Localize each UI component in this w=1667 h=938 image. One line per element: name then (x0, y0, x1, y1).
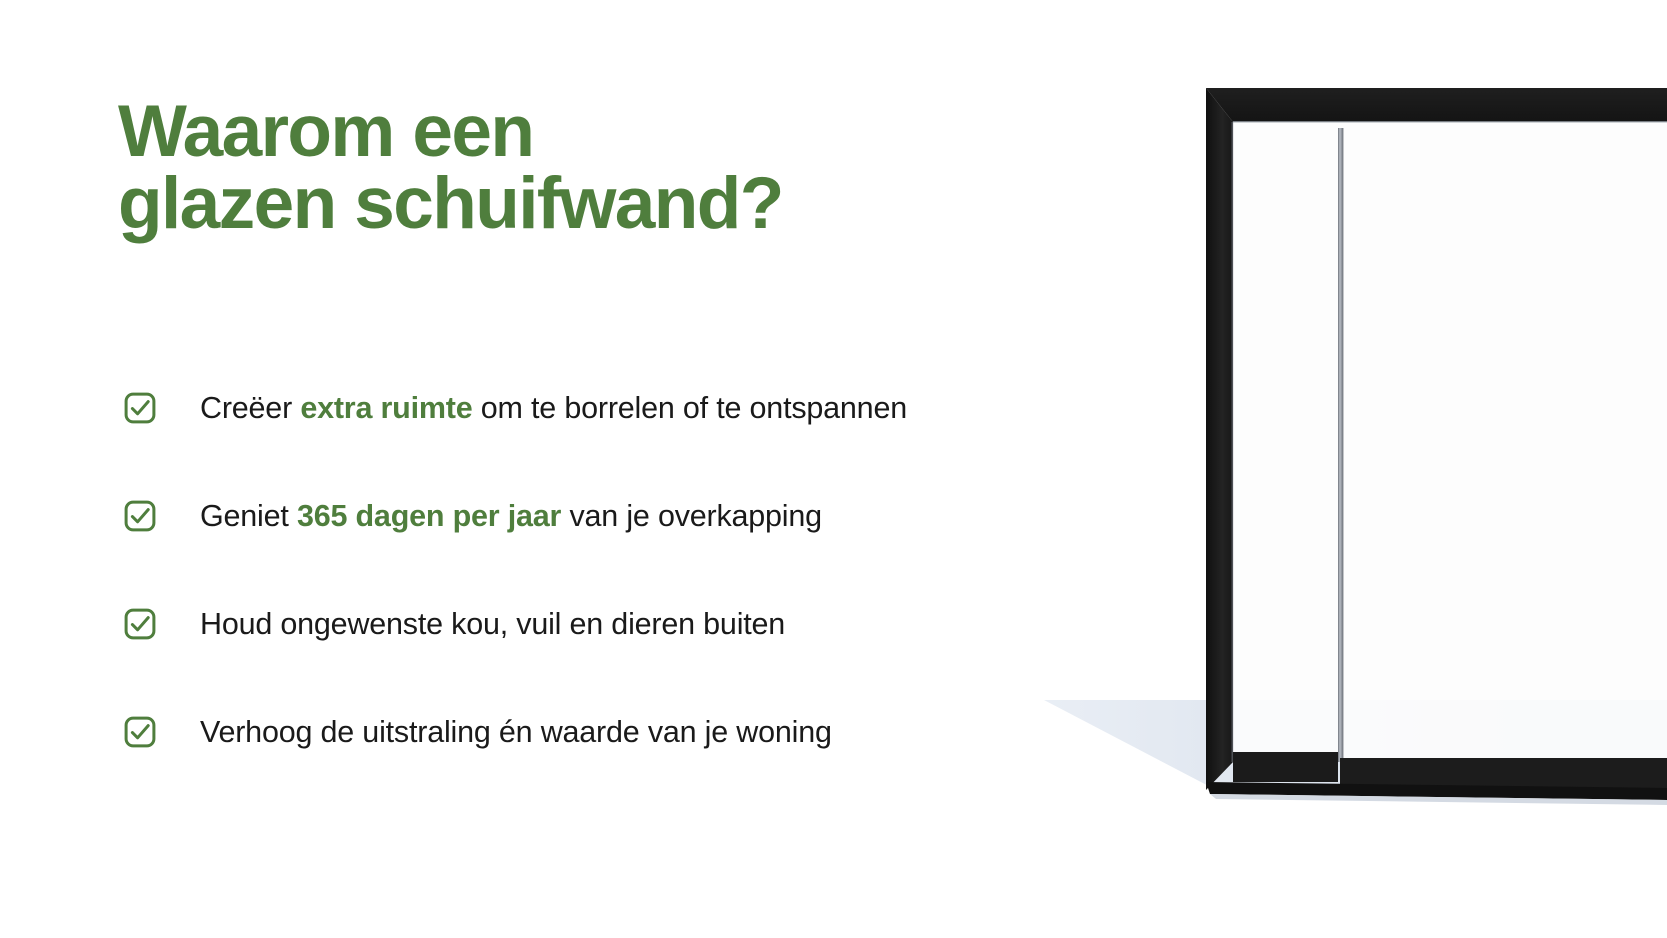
frame-bottom-rail-left (1233, 752, 1338, 782)
glass-sliding-wall-photo (1020, 0, 1667, 938)
list-item-label: Verhoog de uitstraling én waarde van je … (200, 717, 832, 748)
frame-left-post (1206, 88, 1233, 790)
frame-top-rail (1206, 88, 1667, 122)
list-item-emphasis: 365 dagen per jaar (297, 499, 561, 533)
list-item-label: Geniet 365 dagen per jaar van je overkap… (200, 501, 822, 532)
list-item: Creëer extra ruimte om te borrelen of te… (124, 390, 1074, 426)
list-item-label: Creëer extra ruimte om te borrelen of te… (200, 393, 907, 424)
list-item-label: Houd ongewenste kou, vuil en dieren buit… (200, 609, 785, 640)
list-item-text-part: Geniet (200, 499, 297, 533)
checkbox-checked-icon (124, 500, 156, 532)
list-item-emphasis: extra ruimte (300, 391, 472, 425)
checkbox-checked-icon (124, 608, 156, 640)
list-item-text-part: om te borrelen of te ontspannen (473, 391, 907, 425)
list-item-text-part: van je overkapping (561, 499, 822, 533)
list-item: Geniet 365 dagen per jaar van je overkap… (124, 498, 1074, 534)
frame-bottom-rail-right (1340, 758, 1667, 788)
list-item-text-part: Verhoog de uitstraling én waarde van je … (200, 715, 832, 749)
checkbox-checked-icon (124, 716, 156, 748)
glass-panel (1233, 122, 1667, 762)
text-column: Waarom een glazen schuifwand? Creëer ext… (118, 96, 1078, 856)
list-item: Verhoog de uitstraling én waarde van je … (124, 714, 1074, 750)
benefits-list: Creëer extra ruimte om te borrelen of te… (124, 390, 1074, 750)
page-title: Waarom een glazen schuifwand? (118, 96, 1078, 241)
list-item: Houd ongewenste kou, vuil en dieren buit… (124, 606, 1074, 642)
checkbox-checked-icon (124, 392, 156, 424)
slide-canvas: Waarom een glazen schuifwand? Creëer ext… (0, 0, 1667, 938)
panel-divider (1338, 128, 1343, 762)
list-item-text-part: Creëer (200, 391, 300, 425)
list-item-text-part: Houd ongewenste kou, vuil en dieren buit… (200, 607, 785, 641)
